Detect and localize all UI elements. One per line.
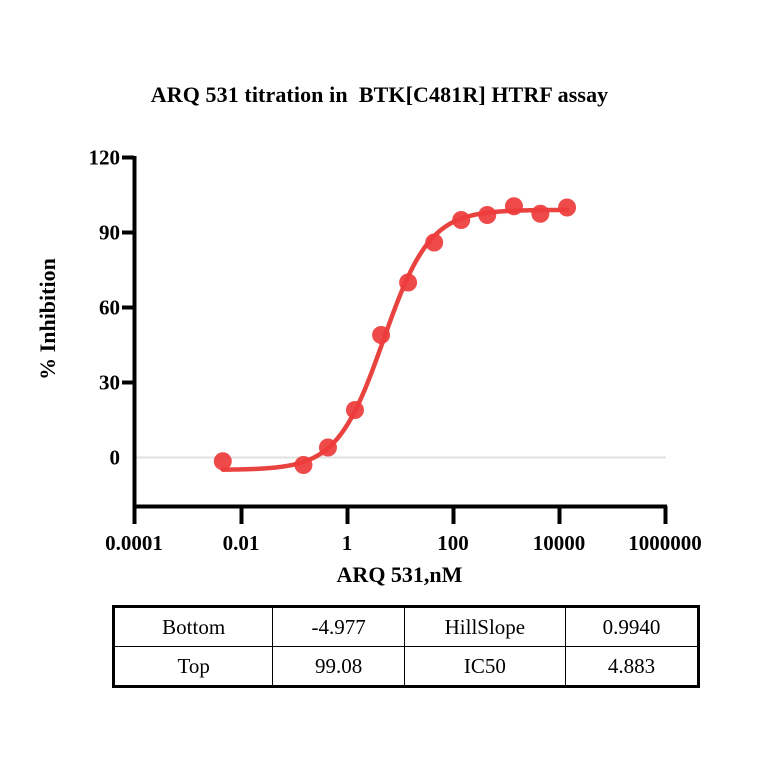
x-tick-label-1: 1 — [342, 531, 353, 556]
param-name-bottom: Bottom — [114, 607, 273, 647]
data-point — [531, 205, 549, 223]
data-point — [372, 326, 390, 344]
data-point — [399, 274, 417, 292]
data-point — [214, 452, 232, 470]
y-tick-label-0: 0 — [48, 446, 120, 471]
data-point — [294, 456, 312, 474]
table-row: Bottom -4.977 HillSlope 0.9940 — [114, 607, 699, 647]
param-value-top: 99.08 — [273, 647, 405, 687]
param-name-ic50: IC50 — [404, 647, 565, 687]
param-name-top: Top — [114, 647, 273, 687]
param-value-ic50: 4.883 — [565, 647, 698, 687]
data-point — [319, 439, 337, 457]
param-name-hillslope: HillSlope — [404, 607, 565, 647]
x-tick-label-10000: 10000 — [533, 531, 586, 556]
fit-curve — [223, 210, 567, 470]
x-tick-label-100: 100 — [437, 531, 469, 556]
chart-page: ARQ 531 titration in BTK[C481R] HTRF ass… — [0, 0, 759, 759]
data-point — [425, 234, 443, 252]
param-value-hillslope: 0.9940 — [565, 607, 698, 647]
data-point — [452, 211, 470, 229]
data-point — [478, 206, 496, 224]
y-axis-title: % Inhibition — [35, 209, 61, 429]
x-axis-title: ARQ 531,nM — [133, 562, 666, 588]
param-value-bottom: -4.977 — [273, 607, 405, 647]
data-markers — [214, 197, 576, 474]
y-tick-label-120: 120 — [48, 146, 120, 171]
data-point — [558, 199, 576, 217]
plot-area: 120 90 60 30 0 0.0001 0.01 1 100 10000 1… — [0, 0, 759, 620]
x-tick-label-0.01: 0.01 — [223, 531, 260, 556]
parameters-table: Bottom -4.977 HillSlope 0.9940 Top 99.08… — [112, 605, 700, 688]
data-point — [346, 401, 364, 419]
x-tick-label-0.0001: 0.0001 — [105, 531, 163, 556]
data-point — [505, 197, 523, 215]
table-row: Top 99.08 IC50 4.883 — [114, 647, 699, 687]
x-tick-label-1000000: 1000000 — [628, 531, 702, 556]
